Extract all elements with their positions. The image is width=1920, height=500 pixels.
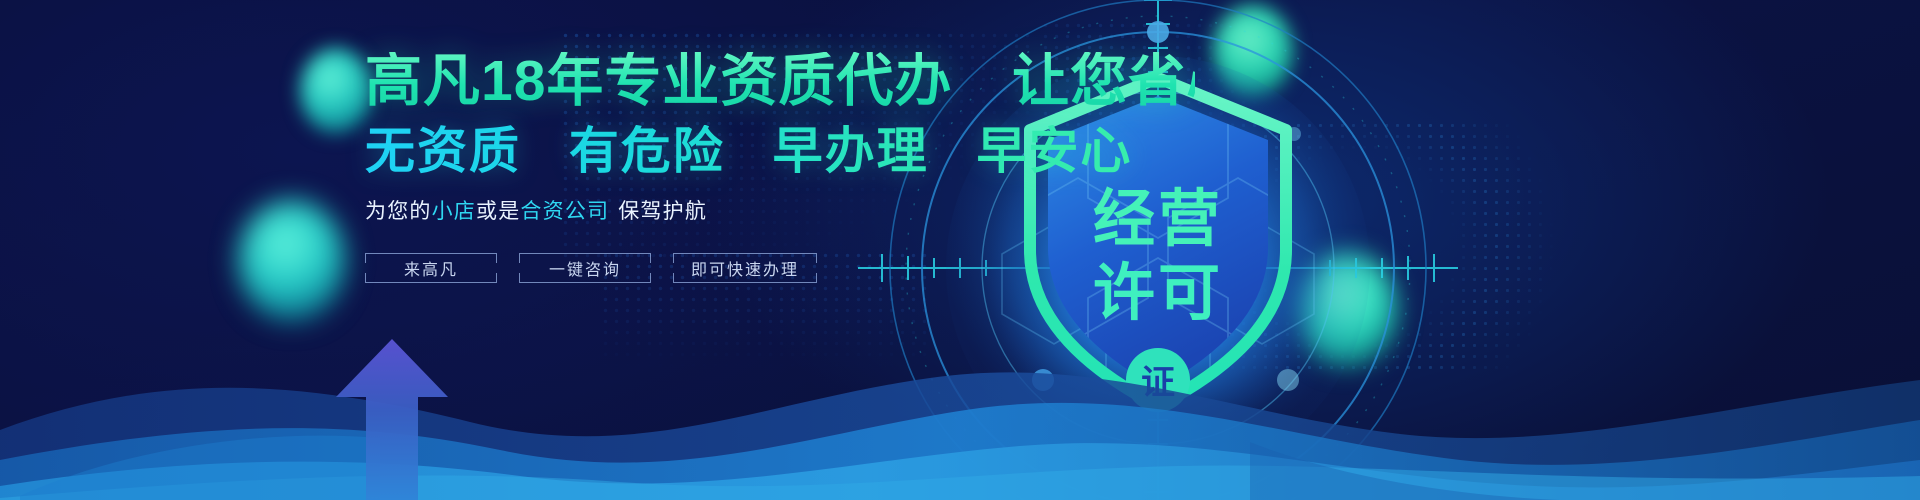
headline-primary-part-b: 让您省心更省力 (1012, 49, 1418, 113)
orbit-dot (1147, 21, 1169, 43)
tag-item-1[interactable]: 一键咨询 (519, 253, 651, 283)
headline-secondary-item-1: 有危险 (569, 123, 725, 179)
glow-orb-icon (238, 200, 346, 322)
tag-item-2[interactable]: 即可快速办理 (673, 253, 817, 283)
growth-arrow-icon (322, 335, 462, 500)
subtitle-highlight-1: 小店 (432, 200, 476, 223)
tag-label: 一键咨询 (549, 256, 621, 280)
tag-label: 来高凡 (404, 256, 458, 280)
tag-item-0[interactable]: 来高凡 (365, 253, 497, 283)
tag-label: 即可快速办理 (691, 256, 799, 280)
wave-decoration (0, 310, 1920, 500)
glow-orb-icon (300, 48, 372, 134)
tag-list: 来高凡 一键咨询 即可快速办理 (365, 253, 1195, 283)
subtitle-part-1: 为您的 (365, 200, 432, 223)
subtitle-part-2: 或是 (476, 200, 520, 223)
headline-primary-part-a: 高凡18年专业资质代办 (365, 49, 952, 113)
headline-secondary-item-2: 早办理 (773, 123, 929, 179)
banner-subtitle: 为您的小店或是合资公司保驾护航 (365, 195, 1195, 225)
subtitle-part-3: 保驾护航 (618, 200, 707, 223)
headline-primary: 高凡18年专业资质代办 让您省心更省力 (365, 52, 1195, 111)
promo-banner: 证 经营 许可 (0, 0, 1920, 500)
banner-copy: 高凡18年专业资质代办 让您省心更省力 无资质 有危险 早办理 早安心 为您的小… (365, 52, 1195, 283)
headline-secondary-item-3: 早安心 (976, 123, 1132, 179)
subtitle-highlight-2: 合资公司 (520, 200, 609, 223)
headline-secondary: 无资质 有危险 早办理 早安心 (365, 125, 1195, 178)
headline-secondary-item-0: 无资质 (365, 123, 521, 179)
